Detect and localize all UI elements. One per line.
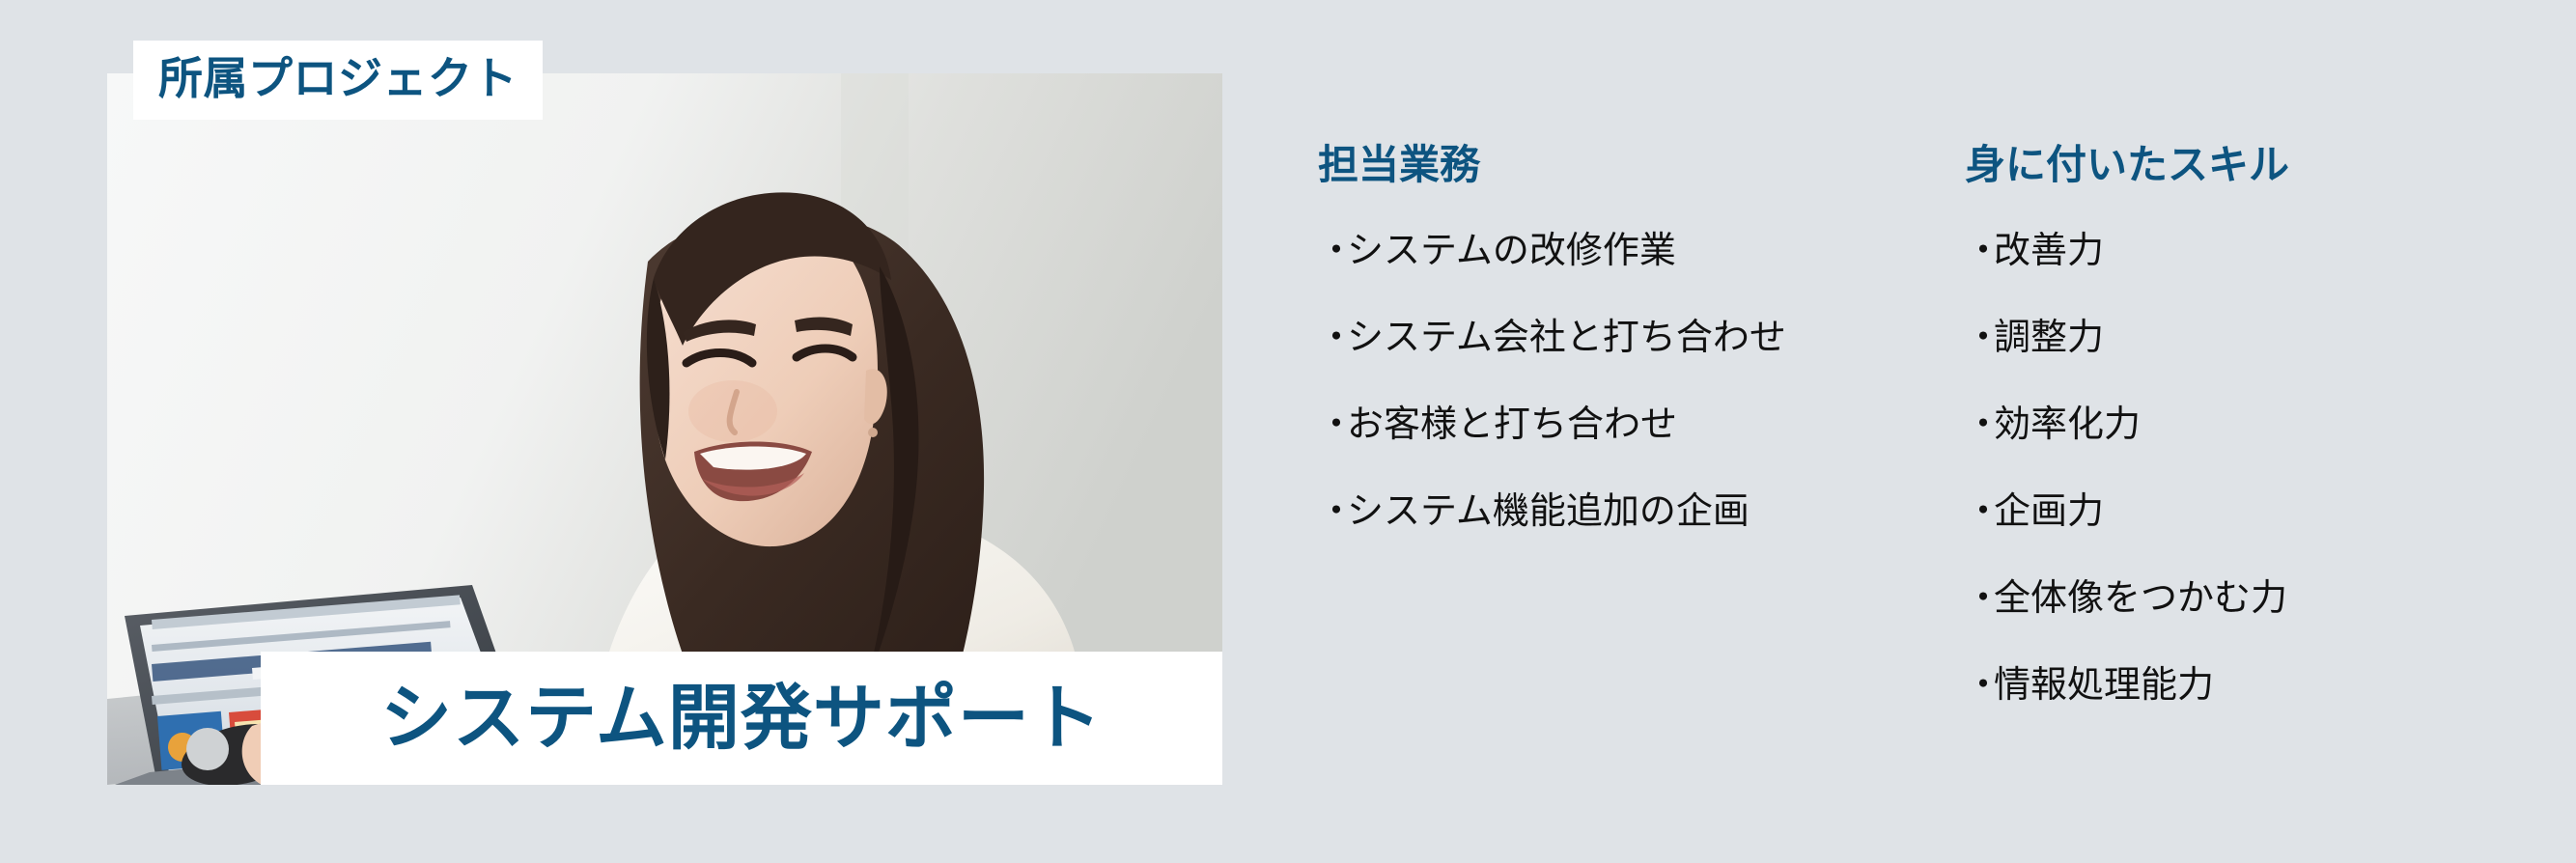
list-item: ・ システム機能追加の企画: [1318, 492, 1965, 529]
bullet-dot-icon: ・: [1965, 319, 1994, 355]
project-label-chip: 所属プロジェクト: [133, 41, 543, 120]
list-item: ・ 企画力: [1965, 492, 2506, 529]
list-item: ・ 全体像をつかむ力: [1965, 579, 2506, 616]
list-item-label: システム機能追加の企画: [1347, 492, 1750, 529]
bullet-dot-icon: ・: [1318, 232, 1347, 268]
bullet-dot-icon: ・: [1318, 405, 1347, 442]
info-columns: 担当業務 ・ システムの改修作業 ・ システム会社と打ち合わせ ・ お客様と打ち…: [1318, 145, 2506, 821]
bullet-dot-icon: ・: [1965, 666, 1994, 703]
list-item: ・ 改善力: [1965, 232, 2506, 268]
skills-list: ・ 改善力 ・ 調整力 ・ 効率化力 ・ 企画力 ・ 全体像をつかむ力: [1965, 232, 2506, 753]
list-item-label: お客様と打ち合わせ: [1347, 405, 1677, 442]
list-item: ・ 調整力: [1965, 319, 2506, 355]
list-item: ・ システムの改修作業: [1318, 232, 1965, 268]
list-item-label: 全体像をつかむ力: [1994, 579, 2287, 616]
project-title-banner: システム開発サポート: [261, 652, 1222, 785]
list-item-label: 情報処理能力: [1994, 666, 2214, 703]
duties-heading: 担当業務: [1318, 145, 1965, 185]
skills-column: 身に付いたスキル ・ 改善力 ・ 調整力 ・ 効率化力 ・ 企画力: [1965, 145, 2506, 753]
project-title-text: システム開発サポート: [380, 682, 1103, 754]
list-item-label: 企画力: [1994, 492, 2104, 529]
list-item: ・ 効率化力: [1965, 405, 2506, 442]
list-item: ・ お客様と打ち合わせ: [1318, 405, 1965, 442]
skills-heading: 身に付いたスキル: [1965, 145, 2506, 185]
bullet-dot-icon: ・: [1965, 405, 1994, 442]
duties-list: ・ システムの改修作業 ・ システム会社と打ち合わせ ・ お客様と打ち合わせ ・…: [1318, 232, 1965, 579]
list-item-label: システムの改修作業: [1347, 232, 1676, 268]
bullet-dot-icon: ・: [1318, 319, 1347, 355]
bullet-dot-icon: ・: [1965, 232, 1994, 268]
bullet-dot-icon: ・: [1318, 492, 1347, 529]
duties-column: 担当業務 ・ システムの改修作業 ・ システム会社と打ち合わせ ・ お客様と打ち…: [1318, 145, 1965, 579]
list-item: ・ 情報処理能力: [1965, 666, 2506, 703]
slide-canvas: 所属プロジェクト システム開発サポート 担当業務 ・ システムの改修作業 ・ シ…: [0, 0, 2576, 863]
bullet-dot-icon: ・: [1965, 492, 1994, 529]
list-item-label: 改善力: [1994, 232, 2104, 268]
list-item: ・ システム会社と打ち合わせ: [1318, 319, 1965, 355]
list-item-label: 効率化力: [1994, 405, 2141, 442]
bullet-dot-icon: ・: [1965, 579, 1994, 616]
list-item-label: システム会社と打ち合わせ: [1347, 319, 1786, 355]
project-label-text: 所属プロジェクト: [158, 54, 518, 104]
list-item-label: 調整力: [1994, 319, 2104, 355]
